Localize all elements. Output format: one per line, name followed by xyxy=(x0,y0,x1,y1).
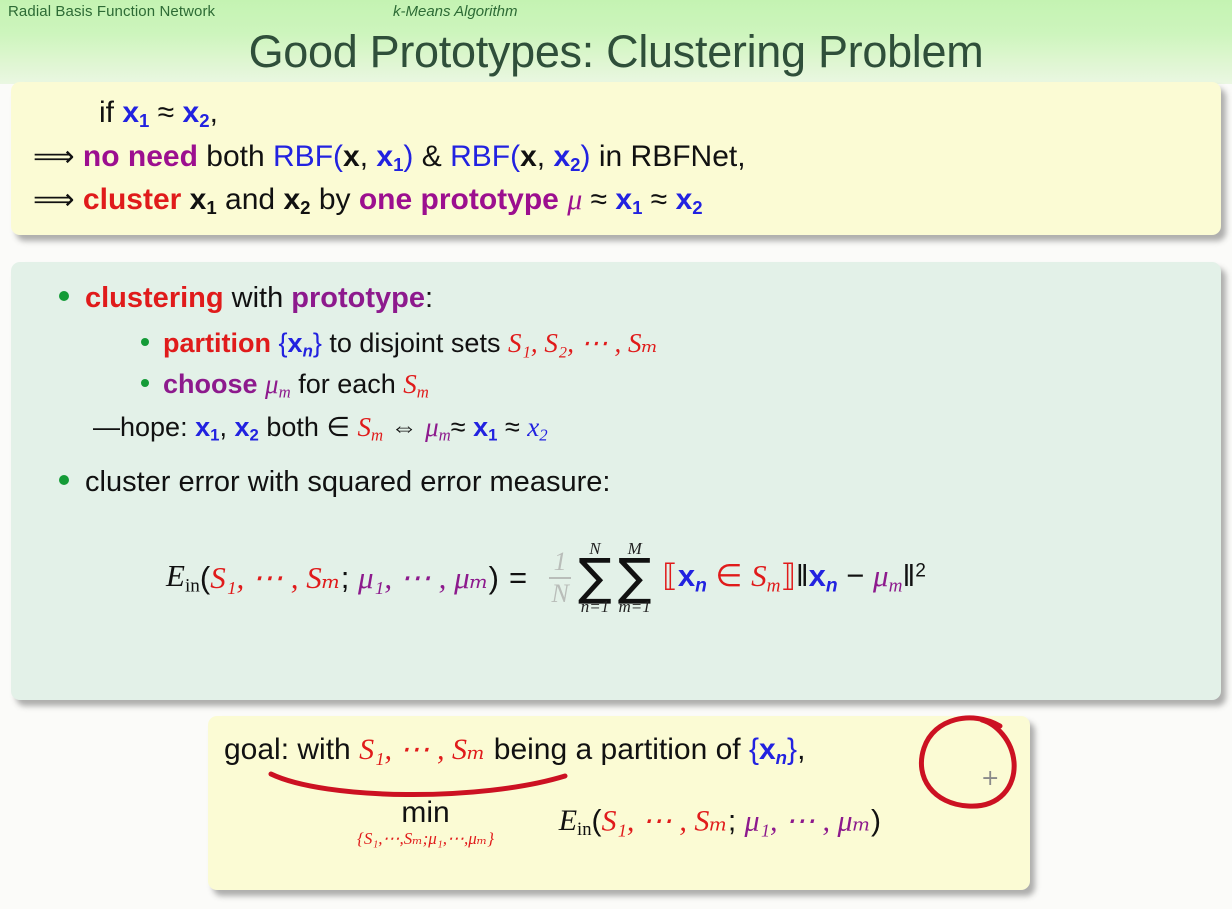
hope-Sm: Sm xyxy=(357,412,383,442)
sigma-icon-1: ∑ xyxy=(578,557,612,598)
ampersand: & xyxy=(422,140,442,173)
rbfnet-tail: in RBFNet, xyxy=(599,140,746,173)
norm-power: 2 xyxy=(915,560,926,581)
both-label: both xyxy=(266,412,319,442)
sub-bullet-dot-icon-1 xyxy=(141,338,149,346)
bullet-dot-icon xyxy=(59,291,69,301)
goal-brace-open: { xyxy=(749,733,759,766)
indicator-element-of: ∈ xyxy=(715,558,742,593)
partition-emphasis: partition xyxy=(163,328,271,358)
page-title: Good Prototypes: Clustering Problem xyxy=(0,26,1232,78)
min-paren-close: ) xyxy=(871,804,881,837)
goal-prefix: goal: with xyxy=(224,733,351,766)
sub-bullet-partition: partition {xn} to disjoint sets S₁, S₂, … xyxy=(141,328,658,362)
goal-sets: S₁, ⋯ , Sₘ xyxy=(359,733,485,766)
premise-line-1: if x1 ≈ x2, xyxy=(99,96,218,132)
bullet-dot-icon-2 xyxy=(59,475,69,485)
if-keyword: if xyxy=(99,96,114,129)
xn-var: xn xyxy=(288,328,313,358)
bullet-clustering-with-prototype: clustering with prototype: xyxy=(59,282,433,315)
x1-var: x1 xyxy=(122,96,149,129)
cursor-crosshair-icon: + xyxy=(981,766,999,791)
hope-label: —hope: xyxy=(93,412,188,442)
partition-sets-list: S₁, S₂, ⋯ , Sₘ xyxy=(508,328,658,358)
hope-mu-m: μm xyxy=(425,412,451,442)
implies-arrow-2: ⟹ xyxy=(33,184,75,216)
norm-term: ‖xn − μm‖2 xyxy=(796,558,926,597)
hope-approx-2: ≈ xyxy=(505,412,520,442)
frac-denominator: N xyxy=(551,580,568,607)
prototype-emphasis: prototype xyxy=(291,282,425,314)
goal-brace-close: } xyxy=(787,733,797,766)
approx-sign-3: ≈ xyxy=(651,183,667,216)
cluster-emphasis: cluster xyxy=(83,183,181,216)
goal-xn: xn xyxy=(759,733,787,766)
min-mus: μ₁, ⋯ , μₘ xyxy=(745,804,871,837)
goal-middle-text: being a partition of xyxy=(494,733,741,766)
one-prototype-emphasis: one prototype xyxy=(359,183,559,216)
element-of-sign: ∈ xyxy=(326,412,350,442)
indicator-term: ⟦xn ∈ Sm⟧ xyxy=(663,558,796,597)
min-operator: min {S₁,⋯,Sₘ;μ₁,⋯,μₘ} xyxy=(357,798,494,847)
minus-sign: − xyxy=(846,558,864,593)
sub-bullet-dot-icon-2 xyxy=(141,379,149,387)
course-title: Radial Basis Function Network xyxy=(8,3,215,20)
rbf-call-2: RBF( xyxy=(450,140,520,173)
x2-ref-2: x2 xyxy=(676,183,703,216)
norm-bar-close: ‖ xyxy=(902,558,915,593)
x1-ref: x1 xyxy=(190,183,217,216)
formula-semicolon: ; xyxy=(341,560,350,596)
choose-emphasis: choose xyxy=(163,369,258,399)
min-label: min xyxy=(401,798,449,828)
min-objective-line: min {S₁,⋯,Sₘ;μ₁,⋯,μₘ} Ein(S₁, ⋯ , Sₘ; μ₁… xyxy=(208,798,1030,847)
section-title: k-Means Algorithm xyxy=(393,3,517,20)
goal-comma: , xyxy=(797,733,805,766)
premise-line-2: ⟹ no need both RBF(x, x1) & RBF(x, x2) i… xyxy=(33,139,746,176)
data-set-brace-close: } xyxy=(313,328,322,358)
sum-over-m: M ∑ m=1 xyxy=(618,540,652,615)
clustering-content-box: clustering with prototype: partition {xn… xyxy=(11,262,1221,700)
iff-sign: ⇔ xyxy=(391,412,418,442)
mu-m-symbol: μm xyxy=(265,369,291,399)
formula-mus: μ₁, ⋯ , μₘ xyxy=(358,560,489,596)
x2-ref: x2 xyxy=(283,183,310,216)
x1-ref-2: x1 xyxy=(615,183,642,216)
goal-statement-line: goal: with S₁, ⋯ , Sₘ being a partition … xyxy=(224,732,805,769)
formula-sets: S₁, ⋯ , Sₘ xyxy=(210,560,341,596)
approx-sign-2: ≈ xyxy=(591,183,607,216)
implies-arrow-1: ⟹ xyxy=(33,141,75,173)
premise-box: if x1 ≈ x2, ⟹ no need both RBF(x, x1) & … xyxy=(11,82,1221,235)
mu-symbol: μ xyxy=(567,183,582,216)
min-E: Ein xyxy=(559,804,592,837)
clustering-emphasis: clustering xyxy=(85,282,224,314)
Sm-symbol: Sm xyxy=(403,369,429,399)
cluster-error-formula: Ein ( S₁, ⋯ , Sₘ ; μ₁, ⋯ , μₘ ) = 1 N N … xyxy=(166,540,926,615)
both-word: both xyxy=(206,140,264,173)
sum2-lower-limit: m=1 xyxy=(619,598,651,615)
hope-x1: x1 xyxy=(195,412,219,442)
min-paren-open: ( xyxy=(592,804,602,837)
formula-equals: = xyxy=(509,560,527,596)
colon-1: : xyxy=(425,282,433,314)
sigma-icon-2: ∑ xyxy=(618,557,652,598)
bullet-cluster-error: cluster error with squared error measure… xyxy=(59,466,610,499)
hope-x2-b: x2 xyxy=(527,412,547,442)
min-semicolon: ; xyxy=(728,804,736,837)
hope-line: —hope: x1, x2 both ∈ Sm ⇔ μm≈ x1 ≈ x2 xyxy=(93,412,548,446)
hope-x1-b: x1 xyxy=(473,412,497,442)
premise-line-3: ⟹ cluster x1 and x2 by one prototype μ ≈… xyxy=(33,182,703,219)
min-subscript: {S₁,⋯,Sₘ;μ₁,⋯,μₘ} xyxy=(357,830,494,847)
formula-E: Ein xyxy=(166,558,200,597)
indicator-bracket-close: ⟧ xyxy=(781,558,796,593)
slide-header: Radial Basis Function Network k-Means Al… xyxy=(0,0,1232,84)
comma-1: , xyxy=(210,96,218,129)
min-sets: S₁, ⋯ , Sₘ xyxy=(602,804,728,837)
by-word: by xyxy=(319,183,351,216)
sub-bullet-choose: choose μm for each Sm xyxy=(141,369,429,403)
one-over-N-fraction: 1 N xyxy=(549,548,571,606)
x2-var: x2 xyxy=(183,96,210,129)
hope-approx-1: ≈ xyxy=(451,412,466,442)
formula-paren-close: ) xyxy=(489,560,499,596)
with-word: with xyxy=(232,282,284,314)
hope-x2: x2 xyxy=(234,412,258,442)
to-disjoint-sets-text: to disjoint sets xyxy=(329,328,500,358)
data-set-brace-open: { xyxy=(279,328,288,358)
norm-bar-open: ‖ xyxy=(796,558,809,593)
cluster-error-text: cluster error with squared error measure… xyxy=(85,466,610,498)
sum-over-n: N ∑ n=1 xyxy=(578,540,612,615)
formula-paren-open: ( xyxy=(200,560,210,596)
goal-box: goal: with S₁, ⋯ , Sₘ being a partition … xyxy=(208,716,1030,890)
sum1-lower-limit: n=1 xyxy=(581,598,609,615)
for-each-text: for each xyxy=(298,369,396,399)
no-need-emphasis: no need xyxy=(83,140,198,173)
rbf-call-1: RBF( xyxy=(273,140,343,173)
indicator-bracket-open: ⟦ xyxy=(663,558,678,593)
approx-sign-1: ≈ xyxy=(158,96,174,129)
frac-numerator: 1 xyxy=(554,548,567,575)
and-word: and xyxy=(225,183,275,216)
